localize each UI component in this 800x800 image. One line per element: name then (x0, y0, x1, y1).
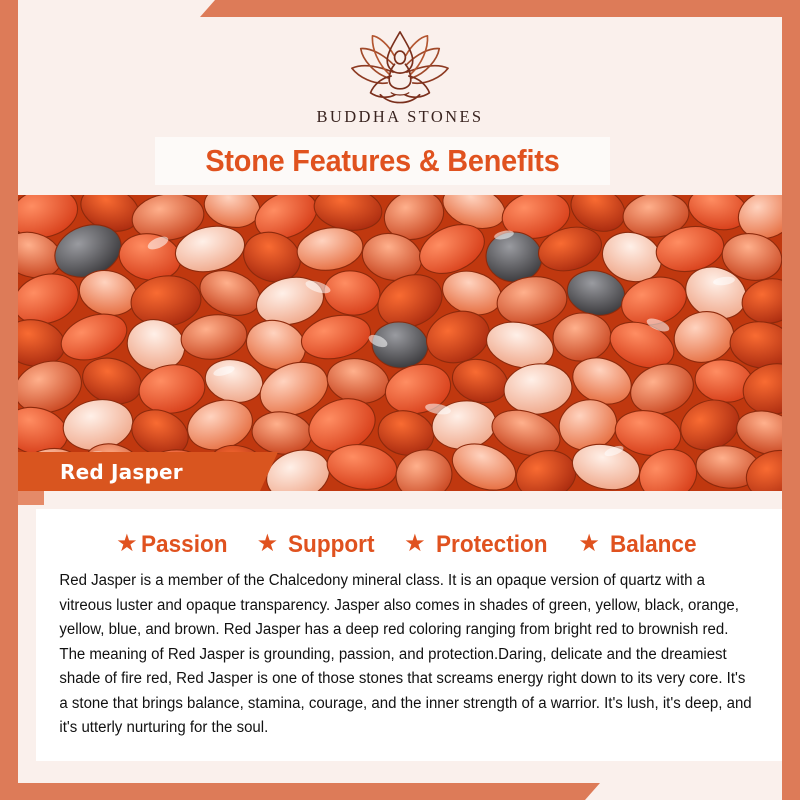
stone-photo (18, 195, 782, 491)
page-title-plate: Stone Features & Benefits (155, 137, 610, 185)
bottom-accent-band (0, 783, 800, 800)
stone-name-label: Red Jasper (18, 460, 183, 484)
benefit-keyword-row: ★ Passion ★ Support ★ Protection ★ Balan… (36, 509, 782, 561)
benefit-label-balance: Balance (610, 531, 697, 559)
star-icon: ★ (257, 532, 279, 556)
description-sheet: ★ Passion ★ Support ★ Protection ★ Balan… (36, 509, 782, 761)
star-icon: ★ (404, 532, 426, 556)
infographic-page: BUDDHA STONES (0, 0, 800, 800)
benefit-item-passion: ★ Passion (116, 531, 233, 559)
star-icon: ★ (116, 532, 138, 556)
banner-corner-tab (18, 491, 44, 505)
benefit-item-support: ★ Support (257, 531, 381, 559)
lotus-meditation-icon (346, 27, 454, 105)
brand-name: BUDDHA STONES (316, 107, 483, 127)
stone-name-banner: Red Jasper (18, 452, 278, 491)
benefit-item-protection: ★ Protection (404, 531, 554, 559)
top-accent-band (0, 0, 800, 17)
content-canvas: BUDDHA STONES (18, 17, 782, 783)
star-icon: ★ (578, 532, 600, 556)
left-accent-rail (0, 0, 18, 800)
stone-description-text: Red Jasper is a member of the Chalcedony… (36, 561, 777, 741)
benefit-label-protection: Protection (436, 531, 548, 559)
page-title: Stone Features & Benefits (205, 143, 559, 179)
right-accent-rail (782, 0, 800, 800)
benefit-label-support: Support (288, 531, 374, 559)
benefit-item-balance: ★ Balance (578, 531, 702, 559)
benefit-label-passion: Passion (141, 531, 228, 559)
brand-header: BUDDHA STONES (18, 17, 782, 142)
